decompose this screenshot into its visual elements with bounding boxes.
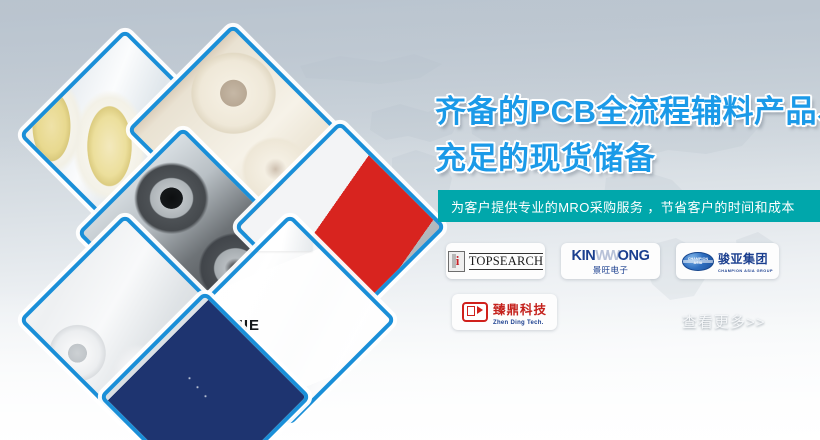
zhen-ding-label-en: Zhen Ding Tech. xyxy=(493,320,547,326)
topsearch-label: TOPSEARCH xyxy=(469,253,544,270)
headline-line-2: 充足的现货储备 xyxy=(435,135,820,182)
zhen-ding-mark-icon xyxy=(462,302,488,322)
subtitle-bar: 为客户提供专业的MRO采购服务 ，节省客户的时间和成本 xyxy=(438,190,820,222)
globe-icon xyxy=(682,252,714,271)
subtitle-text: 为客户提供专业的MRO采购服务 ，节省客户的时间和成本 xyxy=(438,197,795,216)
champion-asia-label-cn: 骏亚集团 xyxy=(718,250,773,267)
logo-zhen-ding[interactable]: 臻鼎科技 Zhen Ding Tech. xyxy=(452,294,557,330)
topsearch-mark-icon xyxy=(448,251,465,272)
kinwong-label-en: KINWWONG xyxy=(572,248,650,264)
zhen-ding-label-cn: 臻鼎科技 xyxy=(493,299,547,318)
product-image-collage xyxy=(0,0,440,440)
kinwong-label-cn: 景旺电子 xyxy=(572,266,650,275)
banner-text-column: 齐备的PCB全流程辅料产品、 充足的现货储备 为客户提供专业的MRO采购服务 ，… xyxy=(430,0,820,440)
promo-banner: 齐备的PCB全流程辅料产品、 充足的现货储备 为客户提供专业的MRO采购服务 ，… xyxy=(0,0,820,440)
logo-kinwong[interactable]: KINWWONG 景旺电子 xyxy=(561,243,660,279)
headline: 齐备的PCB全流程辅料产品、 充足的现货储备 xyxy=(435,88,820,182)
logo-champion-asia[interactable]: 骏亚集团 CHAMPION ASIA GROUP xyxy=(676,243,779,279)
view-more-link[interactable]: 查看更多>> xyxy=(682,311,766,332)
champion-asia-label-en: CHAMPION ASIA GROUP xyxy=(718,269,773,273)
logo-topsearch[interactable]: TOPSEARCH xyxy=(446,243,545,279)
headline-line-1: 齐备的PCB全流程辅料产品、 xyxy=(435,94,820,129)
